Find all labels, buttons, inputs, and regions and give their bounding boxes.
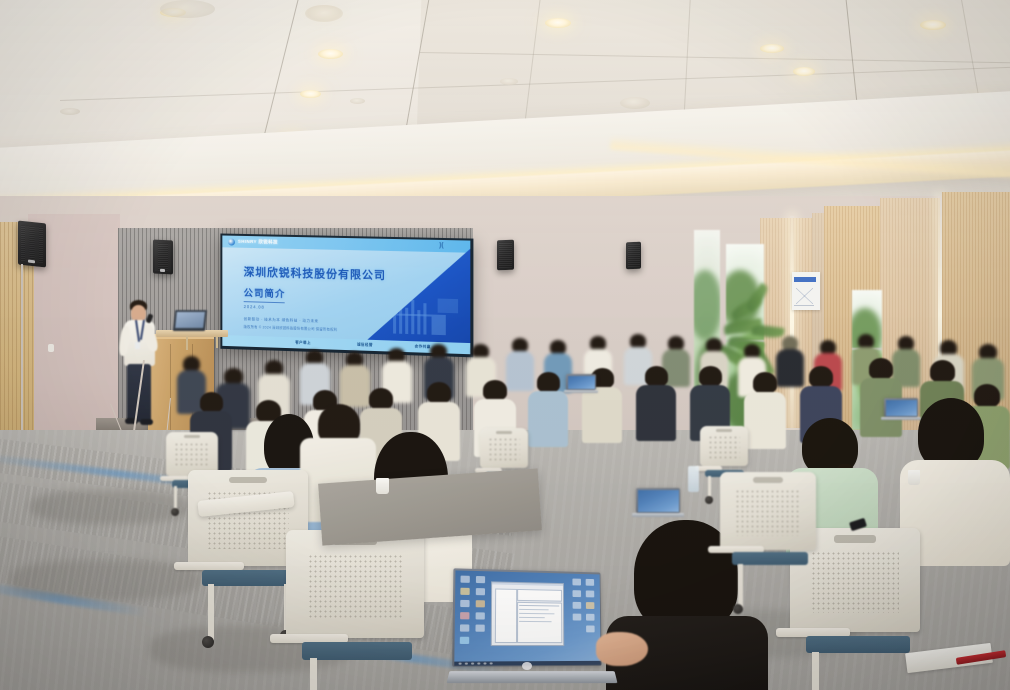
slide-footer-item: 客户尊上 bbox=[295, 340, 311, 345]
laptop-keyboard-base[interactable] bbox=[446, 671, 617, 683]
wall-speaker-center bbox=[153, 239, 173, 274]
ceiling-downlight bbox=[920, 20, 946, 30]
dialog-titlebar[interactable] bbox=[492, 582, 563, 586]
wall-speaker-right-b bbox=[626, 242, 641, 270]
foreground-laptop[interactable] bbox=[448, 570, 616, 688]
slide-corner-mark: )( bbox=[439, 242, 444, 249]
ceiling-speaker bbox=[620, 97, 650, 109]
wall-poster bbox=[792, 272, 820, 310]
slide-accent-triangle bbox=[351, 246, 470, 354]
ceiling-downlight bbox=[318, 49, 343, 59]
ceiling-downlight bbox=[760, 44, 784, 53]
ceiling-speaker bbox=[500, 78, 518, 85]
speaker-grille-icon bbox=[21, 224, 43, 263]
audience-laptop[interactable] bbox=[566, 374, 596, 394]
podium-desk-leg bbox=[216, 336, 218, 348]
conference-room-screenshot: SHINRY 欣锐科技 )( 深圳欣锐科技股份有限公司 公司简介 bbox=[0, 0, 1010, 690]
speaker-grille-icon bbox=[499, 242, 513, 268]
audience-member bbox=[528, 372, 568, 448]
ceiling-downlight bbox=[545, 18, 571, 28]
audience-laptop[interactable] bbox=[636, 488, 680, 518]
smoke-detector-icon bbox=[60, 108, 80, 115]
paper-cup[interactable] bbox=[908, 470, 920, 485]
poster-diagram-icon bbox=[796, 288, 813, 304]
poster-header-band bbox=[794, 277, 816, 282]
podium-laptop-screen bbox=[175, 312, 205, 328]
slide-fine-text-1: 创新驱动 · 技术为本 绿色科技 · 动力未来 bbox=[244, 317, 319, 324]
ceiling-downlight bbox=[793, 67, 815, 76]
speaker-grille-icon bbox=[155, 242, 171, 271]
speaker-logo-icon bbox=[28, 259, 35, 263]
wall-outlet bbox=[48, 344, 54, 352]
laptop-lid bbox=[452, 568, 601, 667]
ceiling-downlight bbox=[300, 90, 321, 98]
speaker-logo-icon bbox=[160, 269, 165, 272]
laptop-screen[interactable] bbox=[454, 570, 600, 665]
training-chair-right-mid[interactable] bbox=[720, 472, 816, 622]
paper-cup[interactable] bbox=[376, 478, 389, 494]
hand bbox=[596, 632, 648, 666]
podium-laptop[interactable] bbox=[173, 310, 207, 331]
ceiling-vent-icon bbox=[160, 0, 215, 18]
hp-logo-icon bbox=[522, 662, 532, 670]
slide-fine-text-2: 版权所有 © 2024 深圳欣锐科技股份有限公司 保留所有权利 bbox=[244, 324, 338, 332]
slide-subtitle: 公司简介 bbox=[244, 285, 286, 300]
slide-logo-text: SHINRY 欣锐科技 bbox=[238, 238, 278, 245]
projection-screen: SHINRY 欣锐科技 )( 深圳欣锐科技股份有限公司 公司简介 bbox=[220, 233, 473, 357]
smoke-detector-icon bbox=[350, 98, 365, 104]
slide-divider bbox=[244, 301, 285, 303]
podium-desk-leg bbox=[186, 336, 188, 350]
training-chair-front-center[interactable] bbox=[286, 530, 424, 690]
slide-date: 2024.08 bbox=[244, 304, 265, 310]
slide-surface: SHINRY 欣锐科技 )( 深圳欣锐科技股份有限公司 公司简介 bbox=[222, 235, 470, 354]
presenter-badge bbox=[135, 342, 140, 349]
slide-factory-graphic bbox=[387, 285, 460, 336]
presenter-shoe bbox=[140, 419, 153, 425]
slide-footer-item: 诚信经营 bbox=[357, 342, 373, 348]
shinry-logo-icon bbox=[228, 238, 235, 245]
water-bottle[interactable] bbox=[688, 466, 699, 492]
laptop-dialog-window[interactable] bbox=[490, 581, 564, 646]
slide-header-band: SHINRY 欣锐科技 )( bbox=[222, 235, 470, 252]
slide-title: 深圳欣锐科技股份有限公司 bbox=[244, 264, 386, 283]
audience-member bbox=[744, 372, 786, 450]
ceiling-downlight bbox=[305, 5, 343, 22]
audience-member bbox=[636, 366, 676, 442]
wall-speaker-right-a bbox=[497, 240, 514, 271]
speaker-grille-icon bbox=[628, 244, 640, 267]
wall-speaker-left bbox=[18, 221, 46, 268]
